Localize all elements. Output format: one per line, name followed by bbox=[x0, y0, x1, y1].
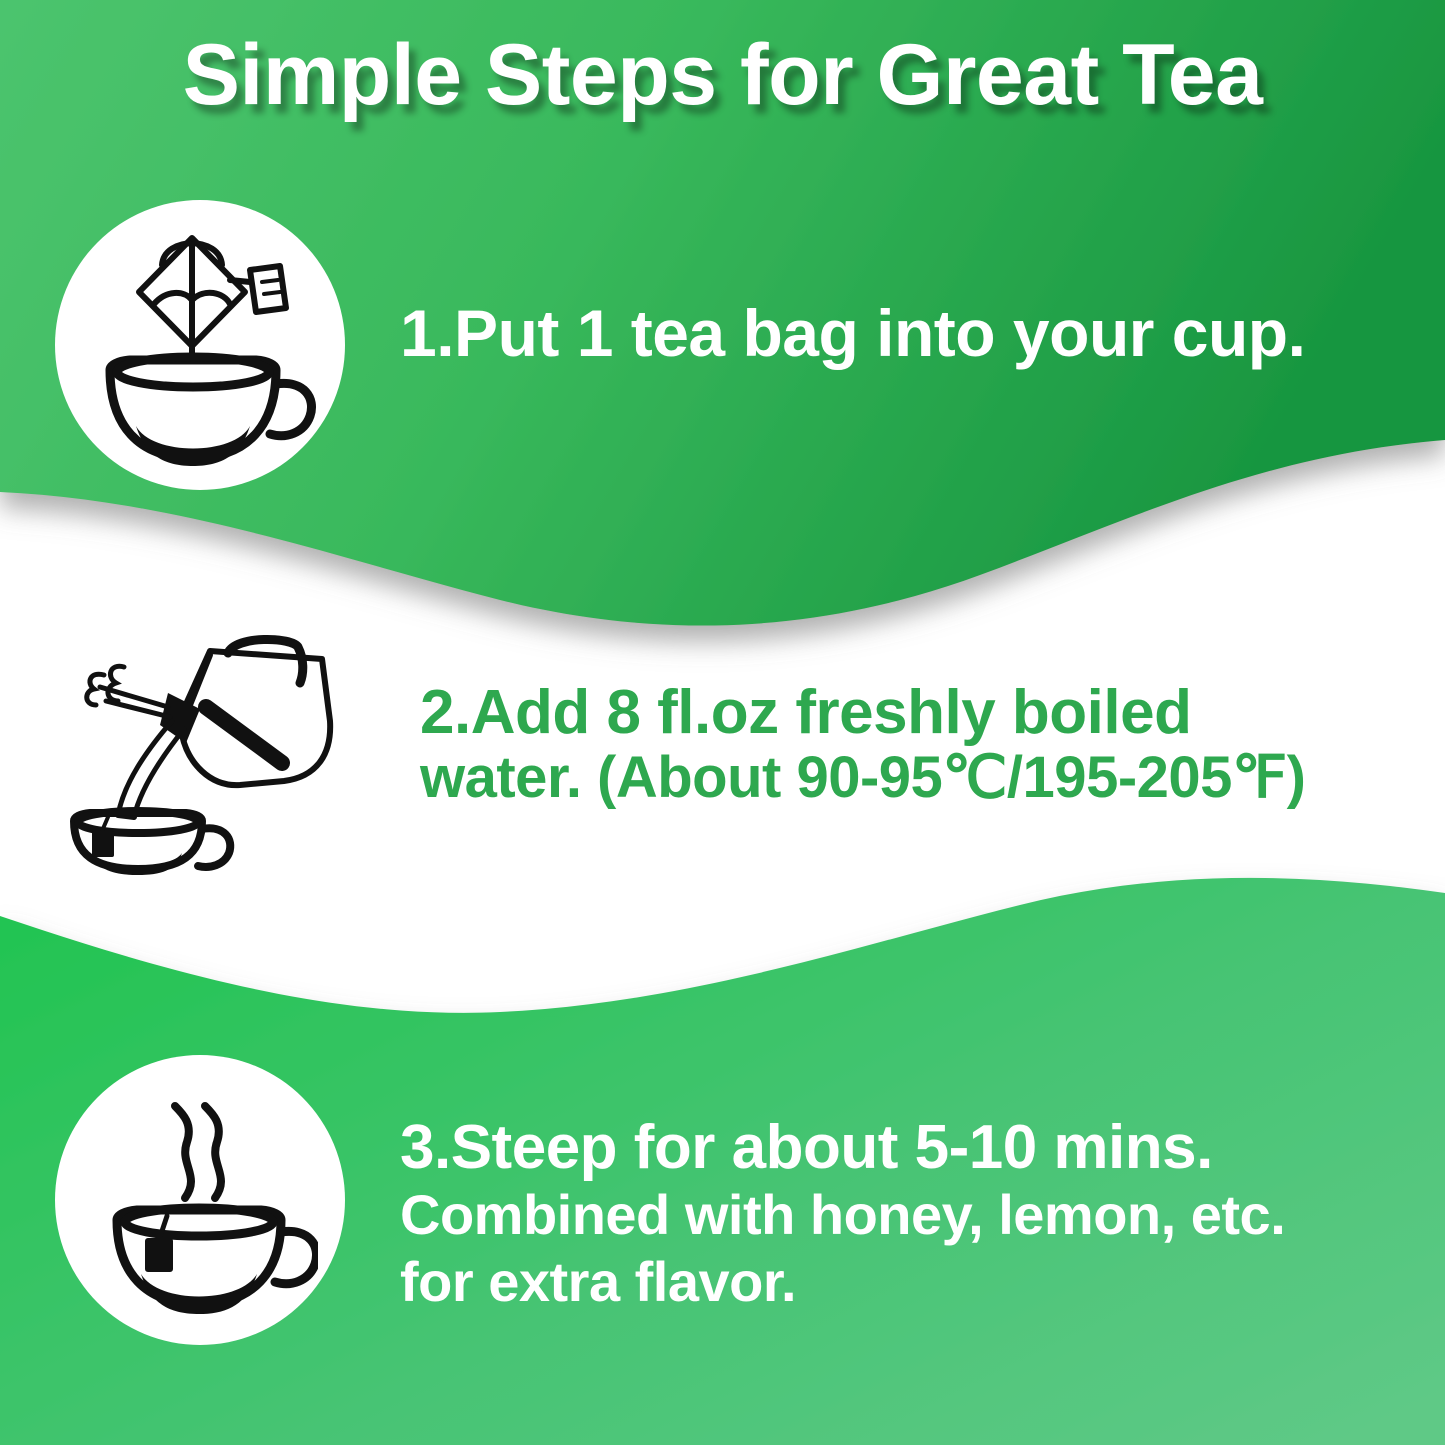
step-3-line-2: Combined with honey, lemon, etc. bbox=[400, 1182, 1435, 1248]
step-1-line-1: 1.Put 1 tea bag into your cup. bbox=[400, 295, 1435, 371]
infographic-canvas: Simple Steps for Great Tea bbox=[0, 0, 1445, 1445]
step-2-line-1: 2.Add 8 fl.oz freshly boiled bbox=[420, 680, 1435, 747]
step-1-text: 1.Put 1 tea bag into your cup. bbox=[345, 200, 1435, 371]
step-2-line-2: water. (About 90-95℃/195-205℉) bbox=[420, 747, 1435, 810]
teabag-into-cup-icon bbox=[80, 220, 320, 470]
step-2-text: 2.Add 8 fl.oz freshly boiled water. (Abo… bbox=[365, 620, 1435, 810]
step-3-line-1: 3.Steep for about 5-10 mins. bbox=[400, 1113, 1435, 1182]
step-2-icon-slot bbox=[55, 620, 365, 880]
step-row-3: 3.Steep for about 5-10 mins. Combined wi… bbox=[55, 1055, 1435, 1345]
step-row-1: 1.Put 1 tea bag into your cup. bbox=[55, 200, 1435, 490]
step-1-icon-slot bbox=[55, 200, 345, 490]
step-row-2: 2.Add 8 fl.oz freshly boiled water. (Abo… bbox=[55, 620, 1435, 880]
kettle-pouring-into-cup-icon bbox=[60, 625, 360, 875]
step-3-icon-slot bbox=[55, 1055, 345, 1345]
step-3-text: 3.Steep for about 5-10 mins. Combined wi… bbox=[345, 1055, 1435, 1315]
step-3-line-3: for extra flavor. bbox=[400, 1249, 1435, 1315]
steaming-cup-icon bbox=[83, 1080, 318, 1320]
